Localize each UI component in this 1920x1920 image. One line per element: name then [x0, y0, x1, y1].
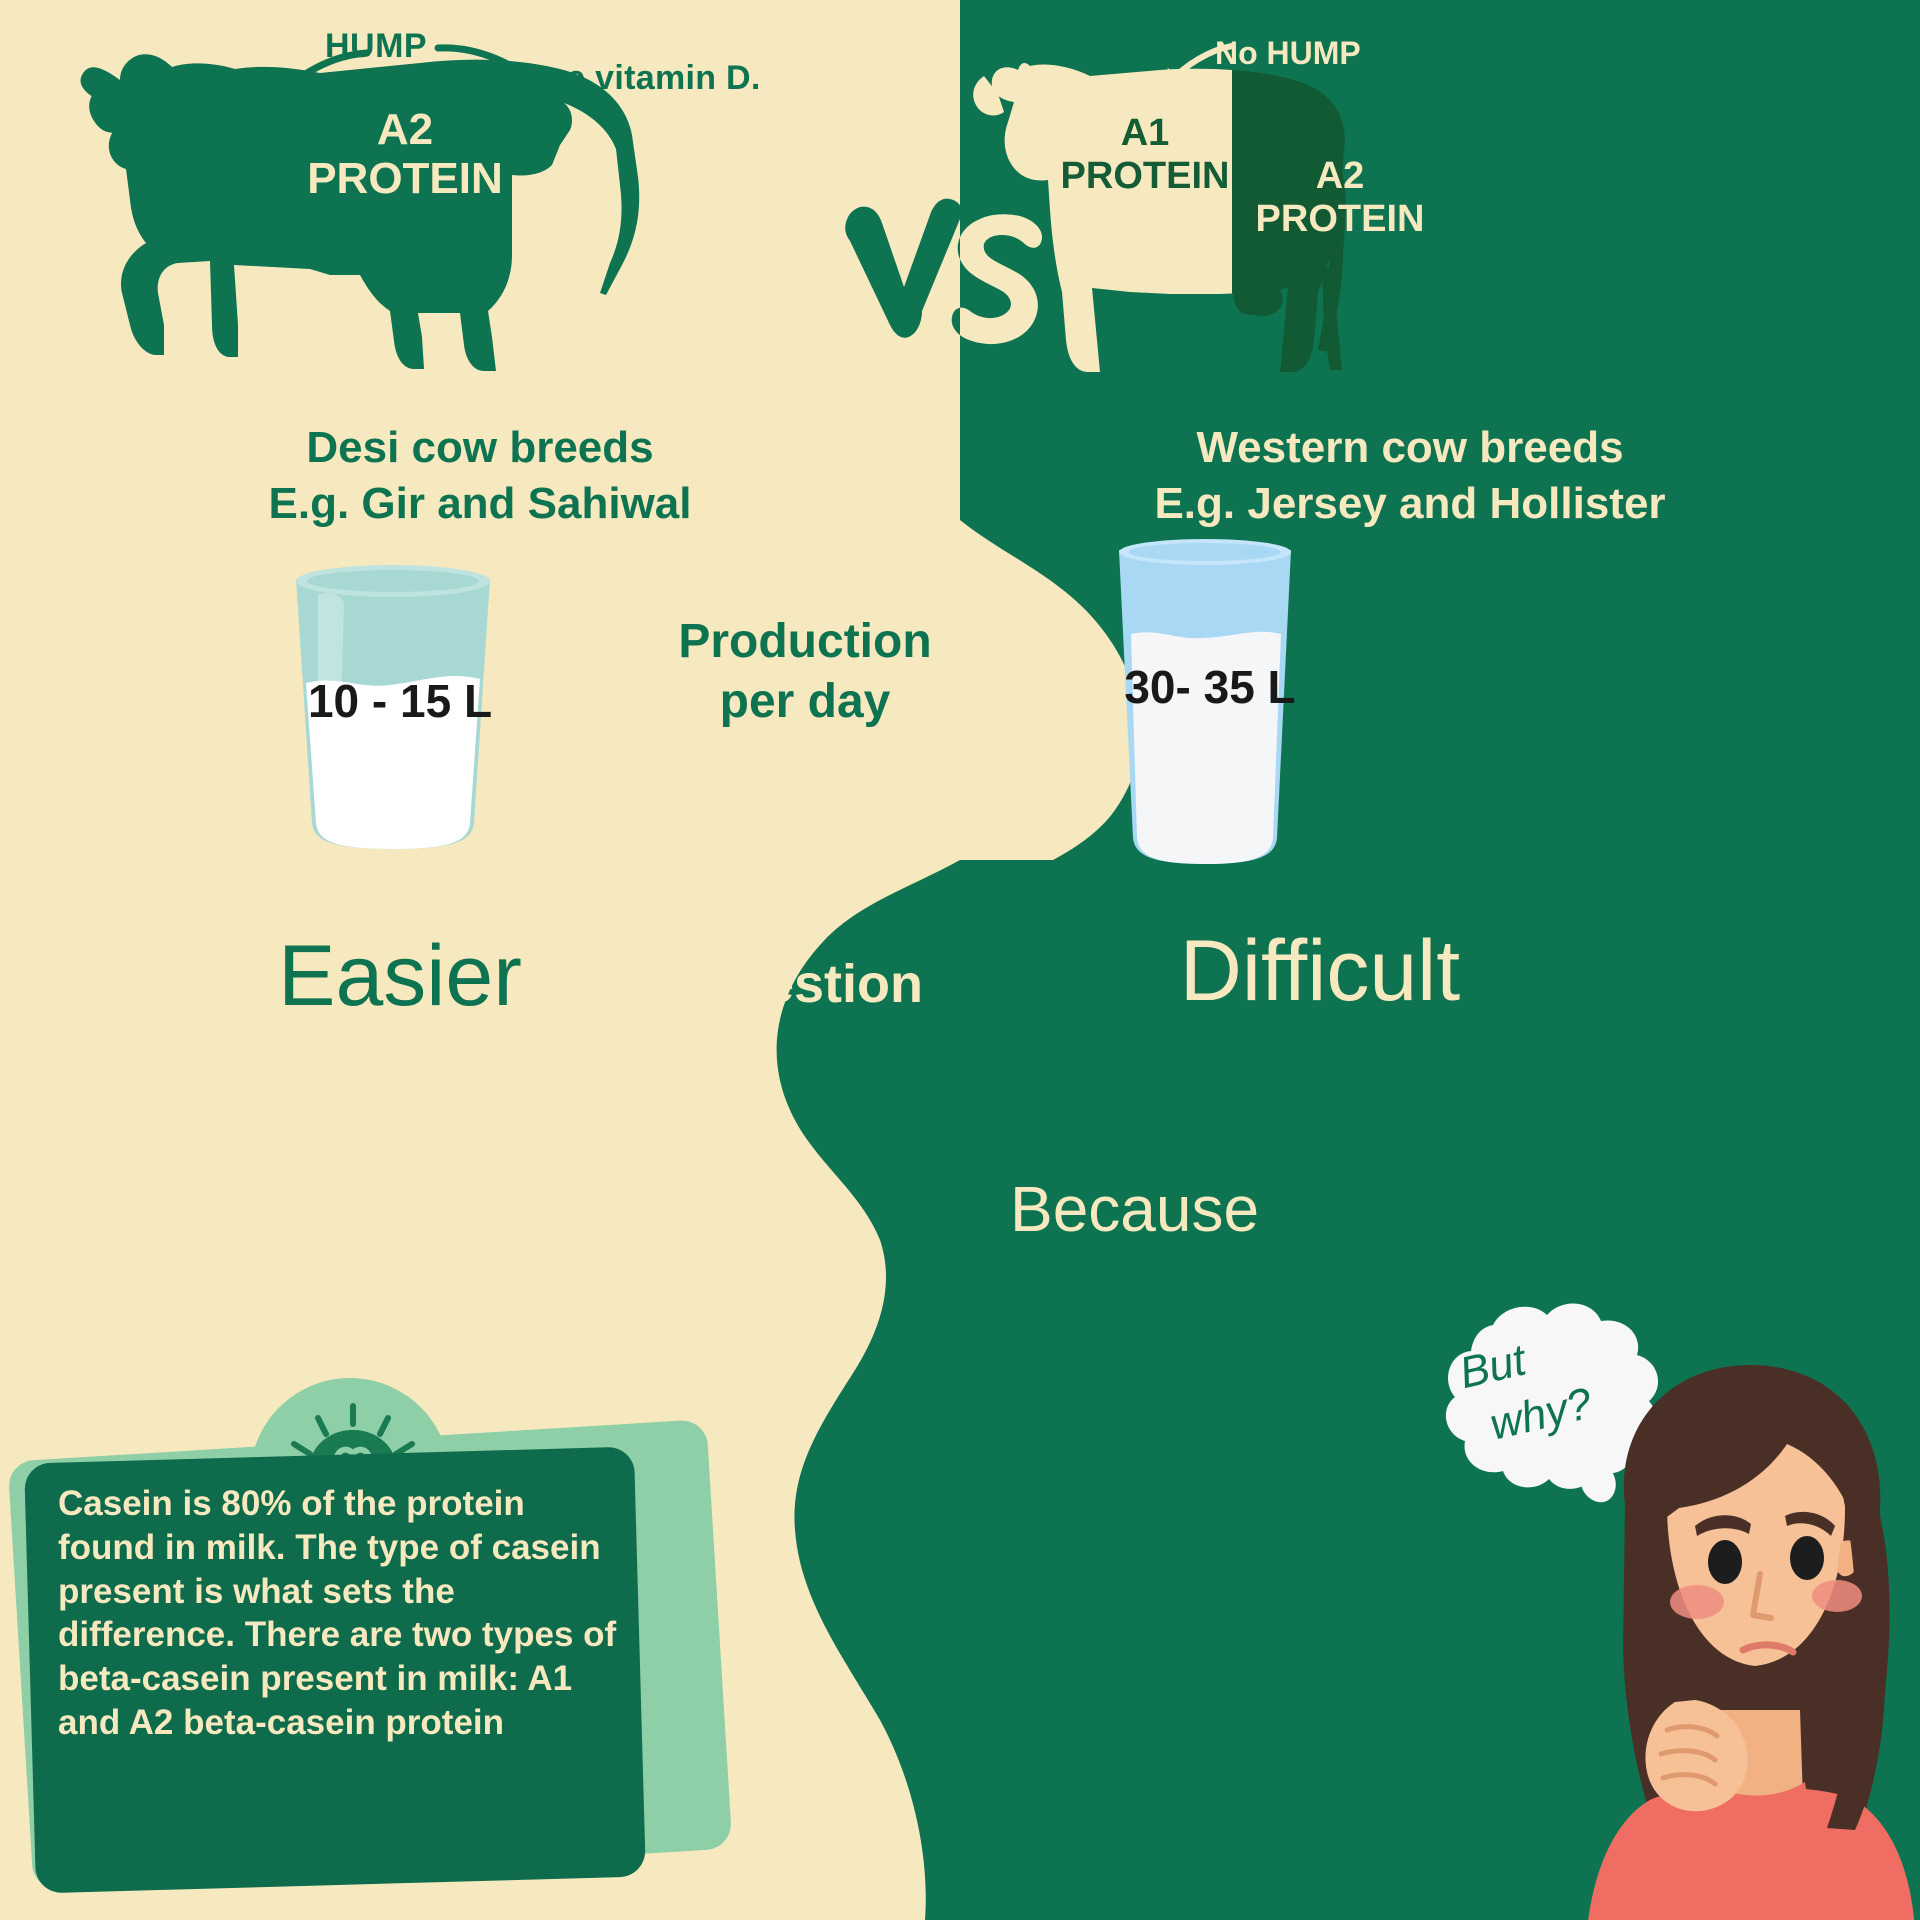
right-milk-amount: 30- 35 L: [1110, 658, 1310, 718]
digestion-label: Digestion: [640, 955, 960, 1013]
right-cow-a2-label: A2 PROTEIN: [1245, 155, 1435, 240]
because-heading: Because: [1010, 1175, 1259, 1244]
western-breed-caption: Western cow breeds E.g. Jersey and Holli…: [960, 420, 1860, 533]
casein-card-text: Casein is 80% of the protein found in mi…: [58, 1482, 618, 1745]
infographic-canvas: HUMP Store vitamin D. A2 PROTEIN No HUMP: [0, 0, 1920, 1920]
production-per-day-label: Production per day: [640, 612, 970, 731]
desi-breed-caption: Desi cow breeds E.g. Gir and Sahiwal: [60, 420, 900, 533]
digestion-right-value: Difficult: [1030, 925, 1610, 1018]
left-cow-protein-label: A2 PROTEIN: [255, 105, 555, 204]
left-milk-amount: 10 - 15 L: [300, 672, 500, 732]
no-hump-arrow-icon: [1150, 40, 1240, 100]
thinking-woman-illustration: [1555, 1330, 1920, 1920]
right-cow-a1-label: A1 PROTEIN: [1050, 112, 1240, 197]
digestion-left-value: Easier: [150, 930, 650, 1023]
